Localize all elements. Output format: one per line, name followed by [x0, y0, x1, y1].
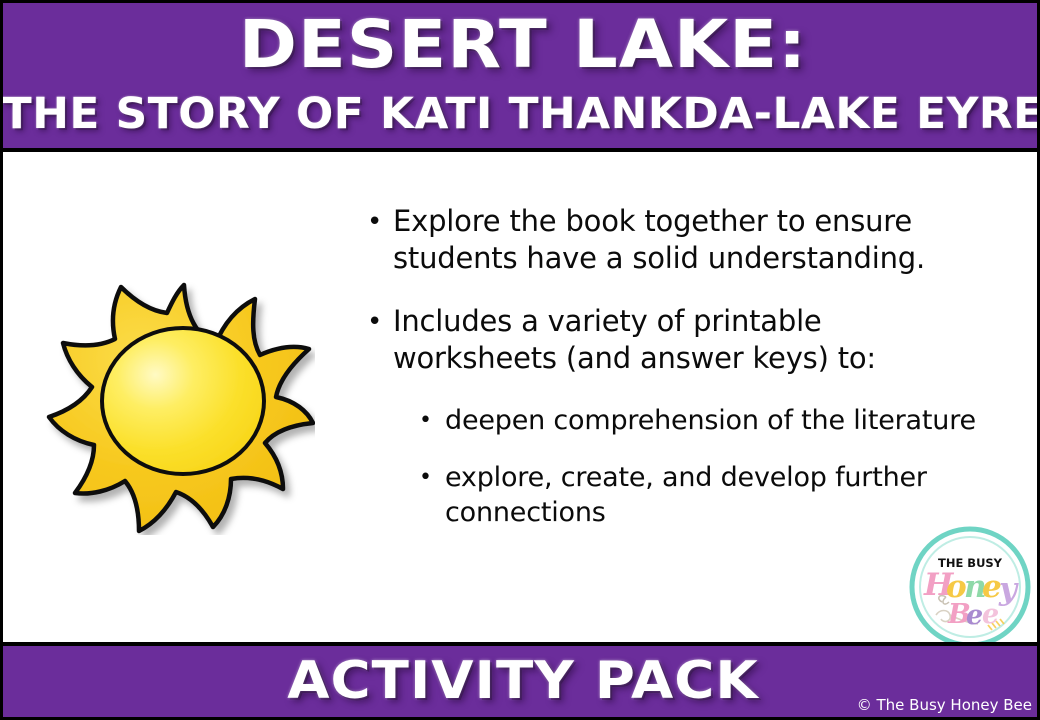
- svg-text:e: e: [982, 599, 999, 630]
- svg-text:e: e: [966, 600, 983, 631]
- bullet-list: • Explore the book together to ensure st…: [363, 203, 983, 552]
- list-item: • Includes a variety of printable worksh…: [363, 303, 983, 377]
- list-item-text: explore, create, and develop further con…: [445, 460, 983, 530]
- footer-banner: ACTIVITY PACK © The Busy Honey Bee: [0, 642, 1040, 720]
- body-area: • Explore the book together to ensure st…: [3, 155, 1037, 647]
- header-banner: DESERT LAKE: THE STORY OF KATI THANKDA-L…: [0, 0, 1040, 152]
- svg-text:y: y: [998, 571, 1019, 607]
- list-item-text: Explore the book together to ensure stud…: [393, 203, 983, 277]
- bullet-marker-icon: •: [363, 203, 393, 241]
- page-title: DESERT LAKE:: [239, 2, 807, 88]
- sun-icon: [45, 265, 315, 535]
- list-item-text: deepen comprehension of the literature: [445, 403, 983, 438]
- list-item: • explore, create, and develop further c…: [415, 460, 983, 530]
- bullet-marker-icon: •: [415, 403, 445, 438]
- list-item: • Explore the book together to ensure st…: [363, 203, 983, 277]
- bullet-marker-icon: •: [415, 460, 445, 495]
- list-item: • deepen comprehension of the literature: [415, 403, 983, 438]
- list-item-text: Includes a variety of printable workshee…: [393, 303, 983, 377]
- page-subtitle: THE STORY OF KATI THANKDA-LAKE EYRE: [2, 88, 1040, 140]
- bullet-marker-icon: •: [363, 303, 393, 341]
- brand-logo: THE BUSY H o n e y B e e: [906, 523, 1034, 651]
- slide-container: DESERT LAKE: THE STORY OF KATI THANKDA-L…: [0, 0, 1040, 720]
- copyright-text: © The Busy Honey Bee: [857, 696, 1032, 714]
